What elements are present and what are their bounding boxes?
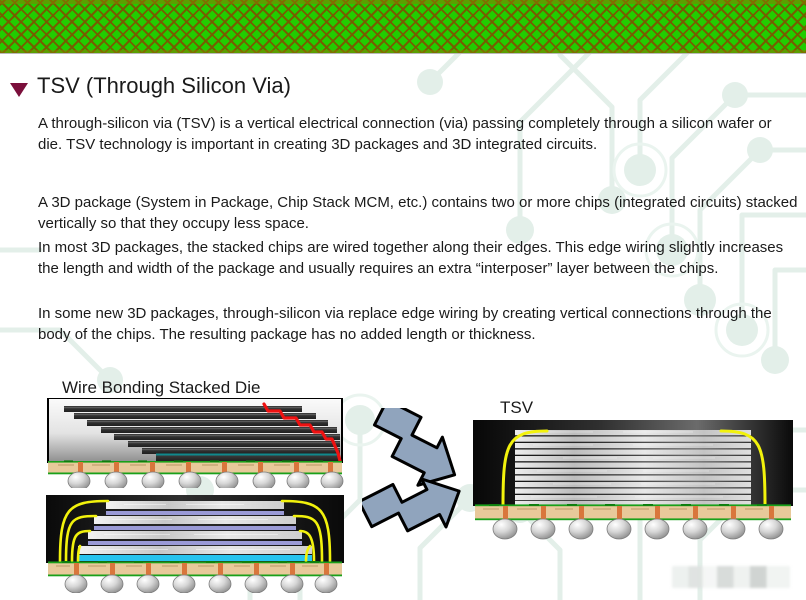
wire-bonding-staircase-diagram <box>46 398 344 488</box>
substrate <box>48 561 342 576</box>
heading-row: TSV (Through Silicon Via) <box>10 75 291 97</box>
tsv-stacked-die-diagram <box>473 420 793 540</box>
solder-balls <box>68 472 343 488</box>
figure-label-wire-bonding: Wire Bonding Stacked Die <box>62 378 260 398</box>
paragraph-4: In some new 3D packages, through-silicon… <box>38 303 798 345</box>
title-band-top <box>0 0 806 4</box>
title-hatch-pattern <box>0 0 806 53</box>
solder-balls <box>65 575 337 593</box>
paragraph-1: A through-silicon via (TSV) is a vertica… <box>38 113 798 155</box>
triangle-down-icon <box>10 83 28 97</box>
transition-arrows <box>362 408 482 548</box>
section-heading: TSV (Through Silicon Via) <box>37 75 291 97</box>
paragraph-2: A 3D package (System in Package, Chip St… <box>38 192 798 234</box>
wire-bonding-stacked-die-diagram <box>46 495 344 593</box>
slide-title-bar <box>0 0 806 53</box>
arrow-down-right-icon <box>362 408 471 498</box>
title-divider <box>0 53 806 54</box>
figure-label-tsv: TSV <box>500 398 533 418</box>
paragraph-3: In most 3D packages, the stacked chips a… <box>38 237 798 279</box>
substrate <box>475 504 791 520</box>
solder-balls <box>493 519 783 539</box>
corner-watermark <box>672 566 790 588</box>
